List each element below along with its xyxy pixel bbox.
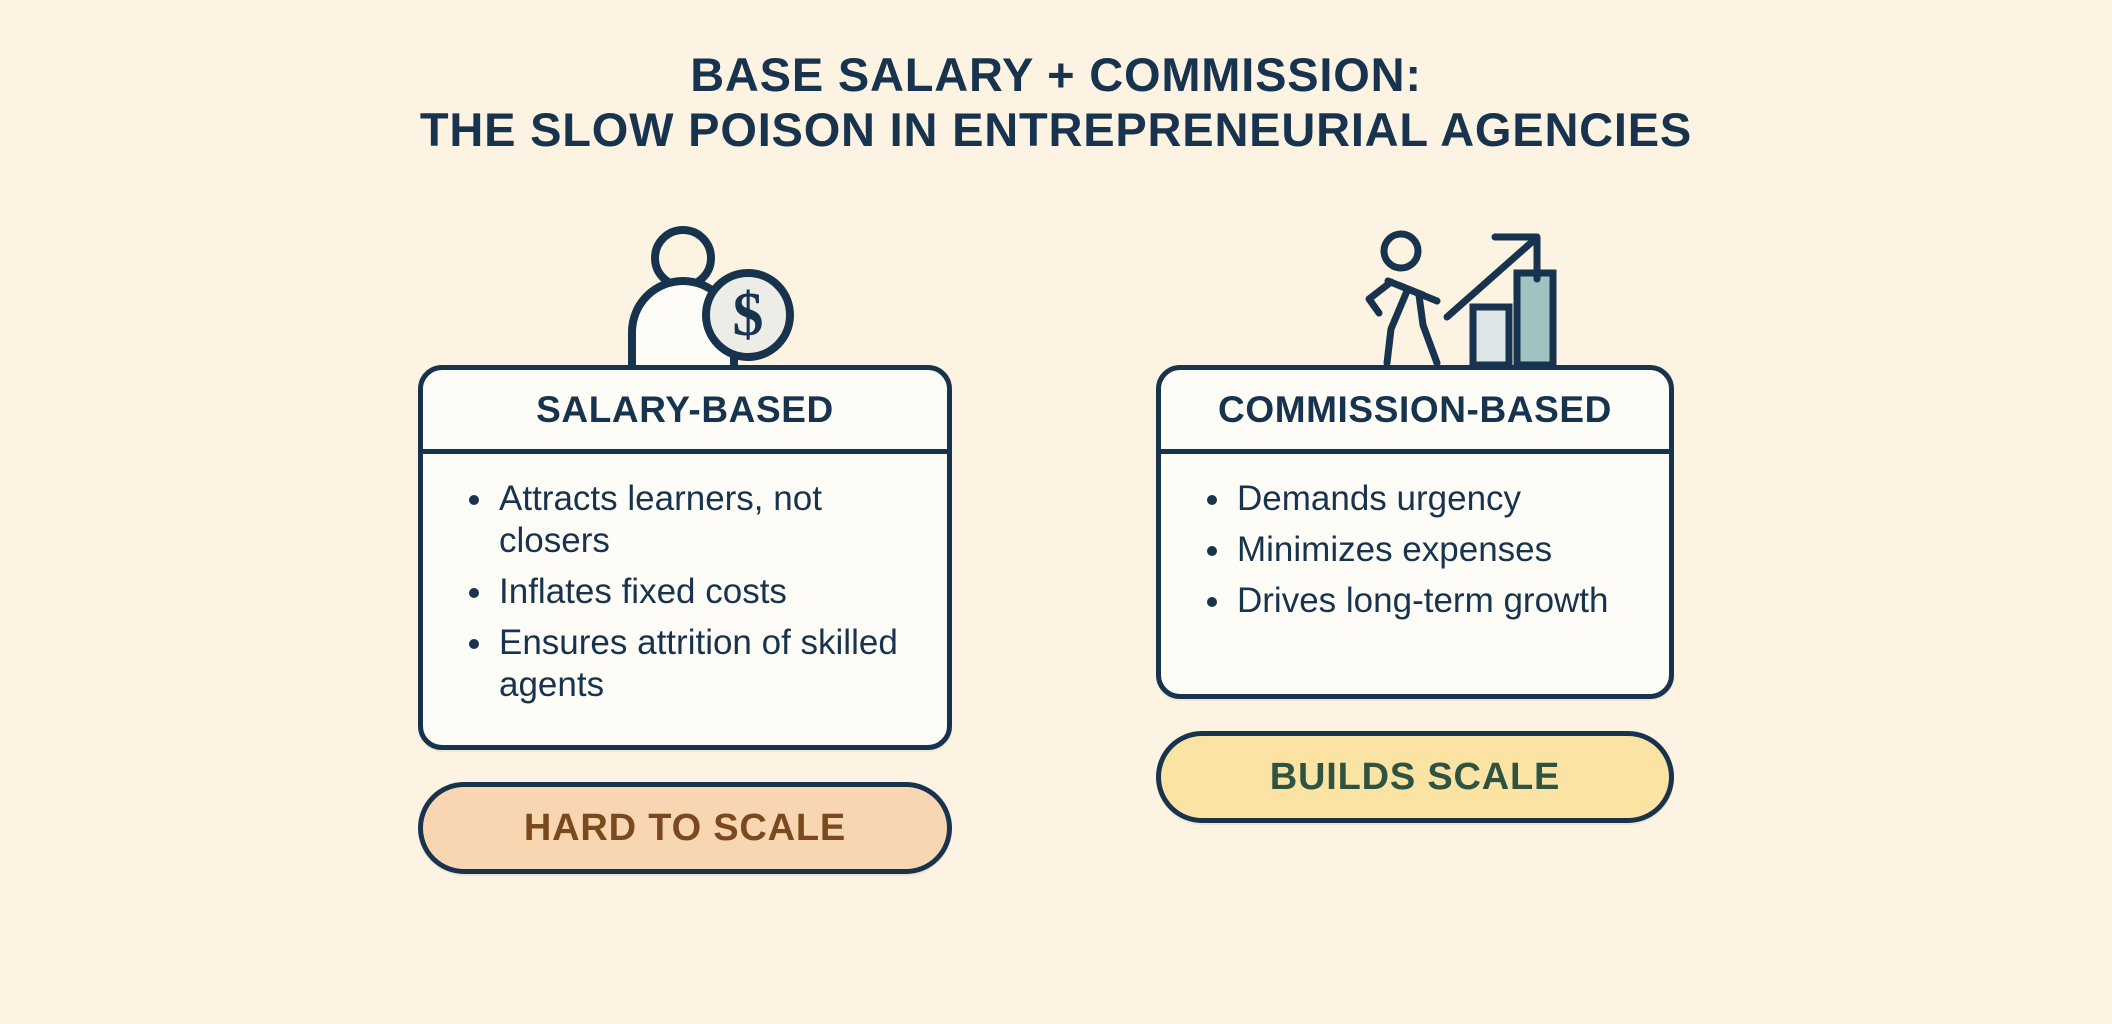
page-title: BASE SALARY + COMMISSION: THE SLOW POISO… — [0, 48, 2112, 158]
page-title-line-1: BASE SALARY + COMMISSION: — [0, 48, 2112, 103]
list-item: Minimizes expenses — [1233, 529, 1643, 571]
hard-to-scale-badge: HARD TO SCALE — [418, 782, 952, 874]
status-badge: HARD TO SCALE — [524, 807, 846, 850]
comparison-columns: $ SALARY-BASED Attracts learners, not cl… — [0, 225, 2112, 985]
builds-scale-badge: BUILDS SCALE — [1156, 731, 1674, 823]
list-item: Demands urgency — [1233, 478, 1643, 520]
page-title-line-2: THE SLOW POISON IN ENTREPRENEURIAL AGENC… — [0, 103, 2112, 158]
status-badge: BUILDS SCALE — [1270, 756, 1560, 799]
svg-text:$: $ — [733, 281, 764, 349]
salary-based-bullet-list: Attracts learners, not closers Inflates … — [449, 478, 921, 706]
list-item: Attracts learners, not closers — [495, 478, 921, 562]
salary-based-card: SALARY-BASED Attracts learners, not clos… — [418, 365, 952, 750]
salary-based-card-header: SALARY-BASED — [423, 370, 947, 454]
commission-based-card: COMMISSION-BASED Demands urgency Minimiz… — [1156, 365, 1674, 699]
salary-based-card-body: Attracts learners, not closers Inflates … — [423, 454, 947, 745]
person-climbing-growth-chart-icon — [1156, 225, 1734, 365]
commission-based-card-header: COMMISSION-BASED — [1161, 370, 1669, 454]
commission-based-card-body: Demands urgency Minimizes expenses Drive… — [1161, 454, 1669, 694]
list-item: Ensures attrition of skilled agents — [495, 622, 921, 706]
list-item: Inflates fixed costs — [495, 571, 921, 613]
list-item: Drives long-term growth — [1233, 580, 1643, 622]
person-with-dollar-coin-icon: $ — [418, 225, 982, 365]
commission-based-bullet-list: Demands urgency Minimizes expenses Drive… — [1187, 478, 1643, 622]
salary-based-title: SALARY-BASED — [536, 389, 834, 431]
commission-based-title: COMMISSION-BASED — [1218, 389, 1612, 431]
